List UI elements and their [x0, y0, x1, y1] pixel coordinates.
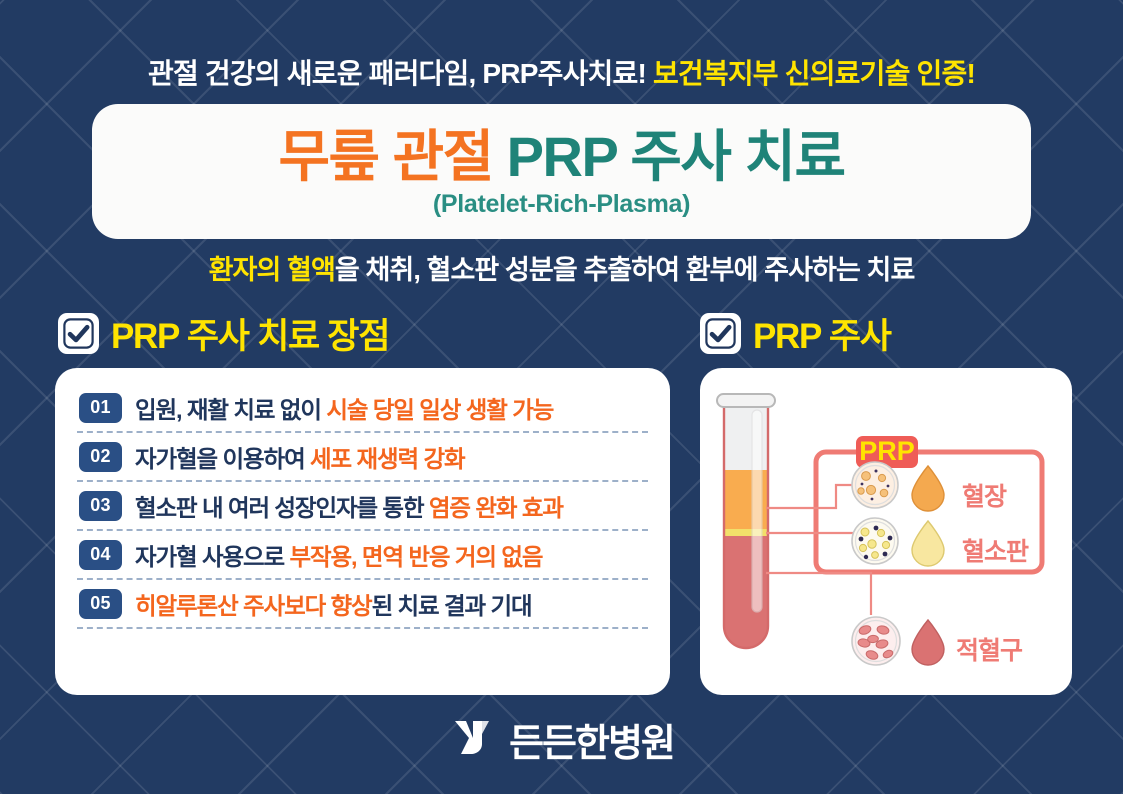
tube-layer-plasma	[720, 470, 772, 529]
infographic-root: 관절 건강의 새로운 패러다임, PRP주사치료! 보건복지부 신의료기술 인증…	[0, 0, 1123, 794]
test-tube-highlight	[752, 410, 762, 612]
plasma-label: 혈장	[962, 483, 1007, 511]
subhead-plain-text: 을 채취, 혈소판 성분을 추출하여 환부에 주사하는 치료	[335, 255, 915, 285]
connector-plasma	[766, 485, 853, 508]
benefit-row: 02 자가혈을 이용하여 세포 재생력 강화	[73, 433, 652, 480]
connector-red-cells	[766, 573, 871, 615]
benefit-plain-after: 된 치료 결과 기대	[372, 593, 532, 619]
benefits-panel: 01 입원, 재활 치료 없이 시술 당일 일상 생활 가능 02 자가혈을 이…	[55, 368, 670, 695]
benefit-row: 05 히알루론산 주사보다 향상된 치료 결과 기대	[73, 580, 652, 627]
platelet-label: 혈소판	[962, 538, 1029, 566]
benefit-plain-before: 자가혈을 이용하여	[135, 446, 310, 472]
hospital-logo-icon	[449, 714, 495, 765]
red-cell-droplet-icon	[912, 620, 944, 665]
footer-logo: 든든한병원	[0, 712, 1123, 767]
benefit-highlight: 히알루론산 주사보다 향상	[135, 593, 372, 619]
red-cell-label: 적혈구	[956, 637, 1023, 665]
benefit-row: 03 혈소판 내 여러 성장인자를 통한 염증 완화 효과	[73, 482, 652, 529]
benefit-row: 01 입원, 재활 치료 없이 시술 당일 일상 생활 가능	[73, 384, 652, 431]
benefit-text: 입원, 재활 치료 없이 시술 당일 일상 생활 가능	[135, 391, 553, 425]
benefit-number-badge: 04	[79, 540, 122, 570]
divider	[77, 627, 648, 629]
tube-layer-platelet	[720, 529, 772, 536]
diagram-section-title: PRP 주사	[753, 308, 891, 359]
benefit-number-badge: 03	[79, 491, 122, 521]
benefit-plain-before: 입원, 재활 치료 없이	[135, 397, 326, 423]
benefit-highlight: 염증 완화 효과	[429, 495, 563, 521]
prp-diagram-panel: PRP	[700, 368, 1072, 695]
benefit-highlight: 부작용, 면역 반응 거의 없음	[290, 544, 543, 570]
benefit-text: 히알루론산 주사보다 향상된 치료 결과 기대	[135, 587, 532, 621]
title-card: 무릎 관절 PRP 주사 치료 (Platelet-Rich-Plasma)	[92, 104, 1031, 239]
benefit-highlight: 시술 당일 일상 생활 가능	[326, 397, 553, 423]
platelet-cell-dish	[852, 518, 898, 564]
subhead-highlight-text: 환자의 혈액	[209, 255, 335, 285]
eyebrow-plain-text: 관절 건강의 새로운 패러다임, PRP주사치료!	[148, 58, 646, 89]
benefit-text: 혈소판 내 여러 성장인자를 통한 염증 완화 효과	[135, 489, 563, 523]
prp-badge-label: PRP	[859, 436, 915, 466]
benefits-section-heading: PRP 주사 치료 장점	[58, 308, 389, 359]
test-tube-cap	[717, 394, 775, 407]
red-cell-dish	[852, 617, 900, 665]
plasma-droplet-icon	[912, 466, 944, 511]
benefit-number-badge: 05	[79, 589, 122, 619]
benefit-number-badge: 02	[79, 442, 122, 472]
sub-headline: 환자의 혈액을 채취, 혈소판 성분을 추출하여 환부에 주사하는 치료	[0, 248, 1123, 287]
checkmark-icon	[700, 313, 741, 354]
benefit-plain-before: 자가혈 사용으로	[135, 544, 290, 570]
title-english-part: PRP 주사 치료	[507, 125, 845, 188]
header-eyebrow: 관절 건강의 새로운 패러다임, PRP주사치료! 보건복지부 신의료기술 인증…	[0, 52, 1123, 92]
benefits-section-title: PRP 주사 치료 장점	[111, 308, 389, 359]
plasma-cell-dish	[852, 462, 898, 508]
title-subtitle: (Platelet-Rich-Plasma)	[433, 190, 690, 219]
benefit-number-badge: 01	[79, 393, 122, 423]
hospital-name: 든든한병원	[509, 712, 674, 767]
platelet-droplet-icon	[912, 521, 944, 566]
title-korean-part: 무릎 관절	[278, 125, 492, 188]
eyebrow-highlight-text: 보건복지부 신의료기술 인증!	[653, 58, 975, 89]
benefit-plain-before: 혈소판 내 여러 성장인자를 통한	[135, 495, 429, 521]
prp-diagram-svg: PRP	[700, 368, 1072, 695]
test-tube-layers	[720, 398, 772, 654]
benefit-text: 자가혈 사용으로 부작용, 면역 반응 거의 없음	[135, 538, 542, 572]
benefit-text: 자가혈을 이용하여 세포 재생력 강화	[135, 440, 465, 474]
diagram-section-heading: PRP 주사	[700, 308, 891, 359]
page-title: 무릎 관절 PRP 주사 치료	[278, 128, 844, 187]
tube-layer-serum	[720, 398, 772, 470]
benefit-highlight: 세포 재생력 강화	[310, 446, 465, 472]
benefit-row: 04 자가혈 사용으로 부작용, 면역 반응 거의 없음	[73, 531, 652, 578]
checkmark-icon	[58, 313, 99, 354]
